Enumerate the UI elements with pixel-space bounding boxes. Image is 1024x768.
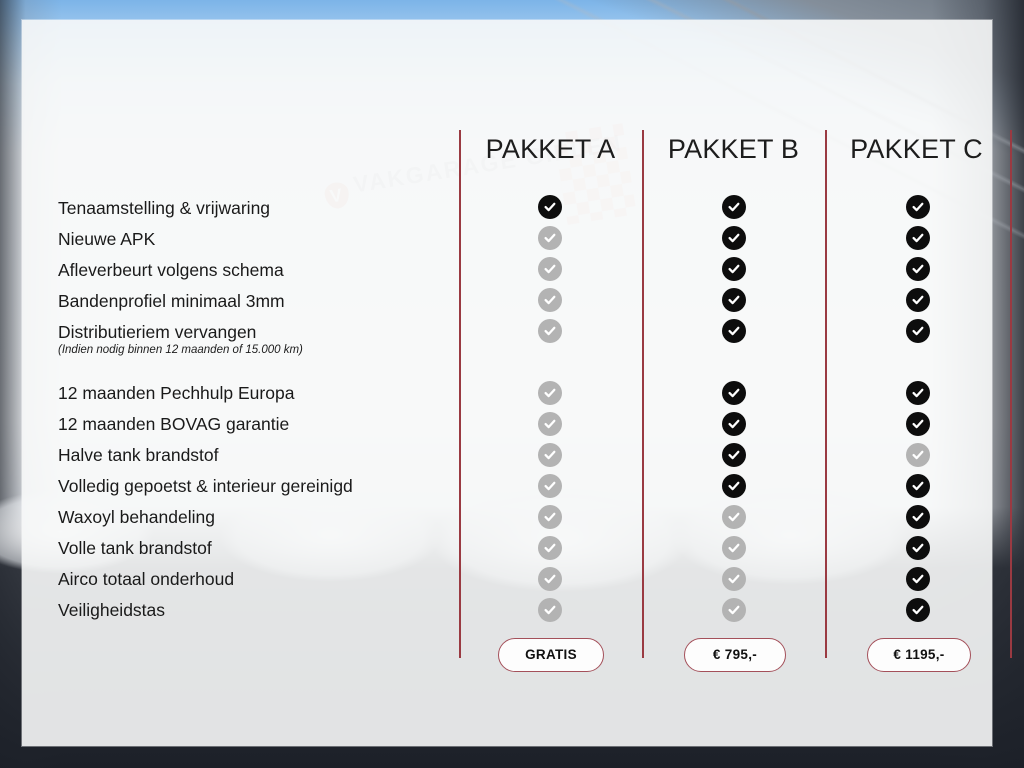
check-excluded-icon	[538, 505, 562, 529]
check-included-icon	[906, 226, 930, 250]
check-included-icon	[906, 536, 930, 560]
check-included-icon	[722, 412, 746, 436]
feature-label: Veiligheidstas	[58, 600, 165, 621]
feature-label: 12 maanden BOVAG garantie	[58, 414, 289, 435]
feature-label: 12 maanden Pechhulp Europa	[58, 383, 294, 404]
check-excluded-icon	[538, 319, 562, 343]
feature-label: Airco totaal onderhoud	[58, 569, 234, 590]
column-header-pakket-c: PAKKET C	[825, 134, 1008, 165]
column-divider-left	[459, 130, 461, 658]
feature-label: Nieuwe APK	[58, 229, 155, 250]
check-excluded-icon	[906, 443, 930, 467]
check-included-icon	[722, 319, 746, 343]
column-divider-right	[1010, 130, 1012, 658]
check-included-icon	[722, 381, 746, 405]
feature-label: Bandenprofiel minimaal 3mm	[58, 291, 285, 312]
feature-label: Volle tank brandstof	[58, 538, 212, 559]
price-pill-pakket-c[interactable]: € 1195,-	[867, 638, 971, 672]
check-excluded-icon	[538, 443, 562, 467]
check-included-icon	[906, 257, 930, 281]
check-included-icon	[906, 288, 930, 312]
check-excluded-icon	[538, 257, 562, 281]
column-header-pakket-a: PAKKET A	[459, 134, 642, 165]
check-excluded-icon	[538, 567, 562, 591]
check-excluded-icon	[722, 536, 746, 560]
check-included-icon	[906, 195, 930, 219]
feature-label: Afleverbeurt volgens schema	[58, 260, 284, 281]
check-included-icon	[906, 381, 930, 405]
feature-label: Distributieriem vervangen	[58, 322, 256, 343]
check-excluded-icon	[538, 474, 562, 498]
check-included-icon	[906, 505, 930, 529]
feature-label: Tenaamstelling & vrijwaring	[58, 198, 270, 219]
column-divider-b-c	[825, 130, 827, 658]
price-pill-pakket-a[interactable]: GRATIS	[498, 638, 604, 672]
check-included-icon	[906, 319, 930, 343]
check-excluded-icon	[538, 412, 562, 436]
check-excluded-icon	[538, 226, 562, 250]
pricing-panel: PAKKET A PAKKET B PAKKET C Tenaamstellin…	[22, 20, 992, 746]
column-divider-a-b	[642, 130, 644, 658]
check-included-icon	[906, 598, 930, 622]
price-pill-pakket-b[interactable]: € 795,-	[684, 638, 786, 672]
check-included-icon	[722, 474, 746, 498]
check-excluded-icon	[538, 536, 562, 560]
check-excluded-icon	[538, 381, 562, 405]
check-included-icon	[722, 443, 746, 467]
check-included-icon	[722, 195, 746, 219]
check-excluded-icon	[538, 288, 562, 312]
column-header-pakket-b: PAKKET B	[642, 134, 825, 165]
feature-label: Waxoyl behandeling	[58, 507, 215, 528]
check-included-icon	[906, 412, 930, 436]
check-excluded-icon	[538, 598, 562, 622]
check-included-icon	[722, 226, 746, 250]
feature-label: Volledig gepoetst & interieur gereinigd	[58, 476, 353, 497]
check-excluded-icon	[722, 505, 746, 529]
check-included-icon	[906, 474, 930, 498]
feature-sublabel: (Indien nodig binnen 12 maanden of 15.00…	[58, 344, 303, 356]
check-included-icon	[722, 257, 746, 281]
check-excluded-icon	[722, 567, 746, 591]
check-included-icon	[722, 288, 746, 312]
feature-label: Halve tank brandstof	[58, 445, 219, 466]
check-included-icon	[906, 567, 930, 591]
check-included-icon	[538, 195, 562, 219]
check-excluded-icon	[722, 598, 746, 622]
